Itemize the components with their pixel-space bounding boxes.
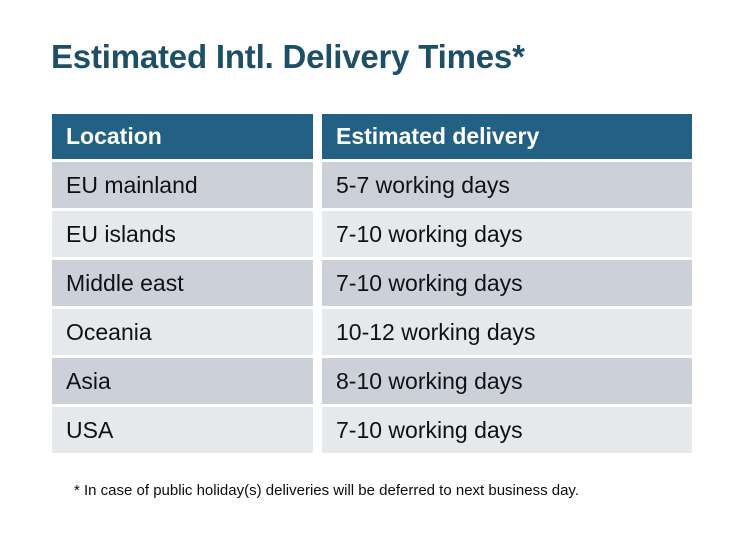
cell-estimated-delivery: 7-10 working days <box>322 211 692 257</box>
cell-location: EU mainland <box>52 162 313 208</box>
cell-estimated-delivery: 7-10 working days <box>322 407 692 453</box>
cell-location: USA <box>52 407 313 453</box>
footnote-text: * In case of public holiday(s) deliverie… <box>74 482 579 499</box>
table-row: Asia 8-10 working days <box>52 358 692 404</box>
table-row: Oceania 10-12 working days <box>52 309 692 355</box>
column-header-estimated-delivery: Estimated delivery <box>322 114 692 159</box>
cell-location: Oceania <box>52 309 313 355</box>
table-row: EU islands 7-10 working days <box>52 211 692 257</box>
table-row: Middle east 7-10 working days <box>52 260 692 306</box>
column-header-location: Location <box>52 114 313 159</box>
cell-location: Middle east <box>52 260 313 306</box>
table-row: EU mainland 5-7 working days <box>52 162 692 208</box>
page-title: Estimated Intl. Delivery Times* <box>51 38 525 76</box>
cell-location: EU islands <box>52 211 313 257</box>
cell-estimated-delivery: 10-12 working days <box>322 309 692 355</box>
cell-location: Asia <box>52 358 313 404</box>
table-row: USA 7-10 working days <box>52 407 692 453</box>
delivery-times-page: Estimated Intl. Delivery Times* Location… <box>0 0 745 536</box>
cell-estimated-delivery: 7-10 working days <box>322 260 692 306</box>
table-header-row: Location Estimated delivery <box>52 114 692 159</box>
cell-estimated-delivery: 8-10 working days <box>322 358 692 404</box>
cell-estimated-delivery: 5-7 working days <box>322 162 692 208</box>
estimated-delivery-times-table: Location Estimated delivery EU mainland … <box>52 114 692 456</box>
